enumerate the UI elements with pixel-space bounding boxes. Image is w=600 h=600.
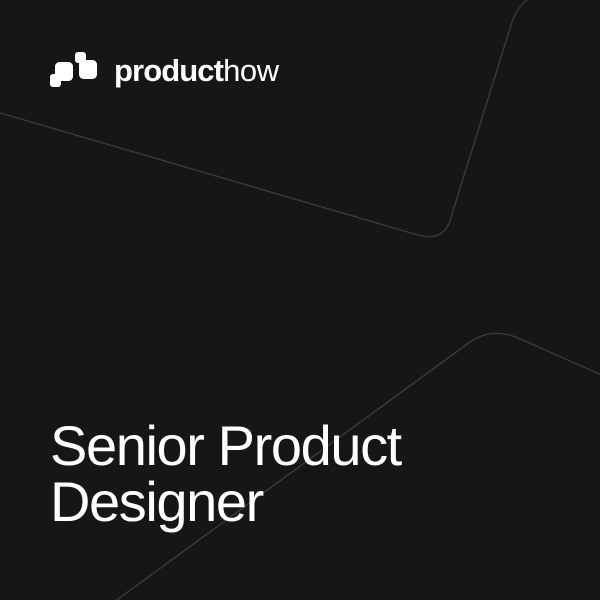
- job-card: product how Senior Product Designer: [0, 0, 600, 600]
- producthow-logo-mark-icon: [50, 52, 98, 88]
- wordmark-strong: product: [114, 55, 223, 86]
- decor-curve-top: [0, 0, 600, 237]
- job-title-line-2: Designer: [50, 474, 480, 530]
- job-title: Senior Product Designer: [50, 418, 480, 530]
- wordmark-light: how: [223, 55, 279, 86]
- job-title-line-1: Senior Product: [50, 418, 480, 474]
- brand-wordmark: product how: [114, 55, 279, 86]
- brand-lockup: product how: [50, 50, 279, 90]
